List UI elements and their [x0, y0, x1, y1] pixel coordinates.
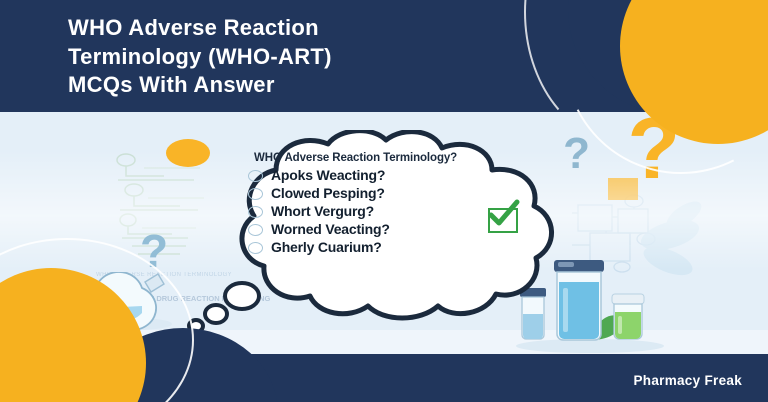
quiz-option-5[interactable]: Gherly Cuarium?: [248, 239, 548, 256]
check-mark-icon: [486, 199, 520, 229]
page-title-line-2: Terminology (WHO-ART): [68, 43, 628, 72]
quiz-option-label-2: Clowed Pesping?: [271, 185, 385, 202]
quiz-option-label-5: Gherly Cuarium?: [271, 239, 382, 256]
brand-label: Pharmacy Freak: [633, 373, 742, 388]
radio-icon-3[interactable]: [248, 206, 263, 218]
quiz-option-label-3: Whort Vergurg?: [271, 203, 374, 220]
page-title-line-1: WHO Adverse Reaction: [68, 14, 628, 43]
quiz-option-label-4: Worned Veacting?: [271, 221, 390, 238]
featured-image-canvas: WHO ADVERSE REACTION TERMINOLOGY ADVERSE…: [0, 0, 768, 402]
quiz-option-1[interactable]: Apoks Weacting?: [248, 167, 548, 184]
quiz-option-label-1: Apoks Weacting?: [271, 167, 385, 184]
radio-icon-4[interactable]: [248, 224, 263, 236]
quiz-question: WHO Adverse Reaction Terminology?: [254, 152, 548, 164]
page-title: WHO Adverse Reaction Terminology (WHO-AR…: [68, 14, 628, 100]
radio-icon-5[interactable]: [248, 242, 263, 254]
radio-icon-2[interactable]: [248, 188, 263, 200]
page-title-line-3: MCQs With Answer: [68, 71, 628, 100]
radio-icon-1[interactable]: [248, 170, 263, 182]
